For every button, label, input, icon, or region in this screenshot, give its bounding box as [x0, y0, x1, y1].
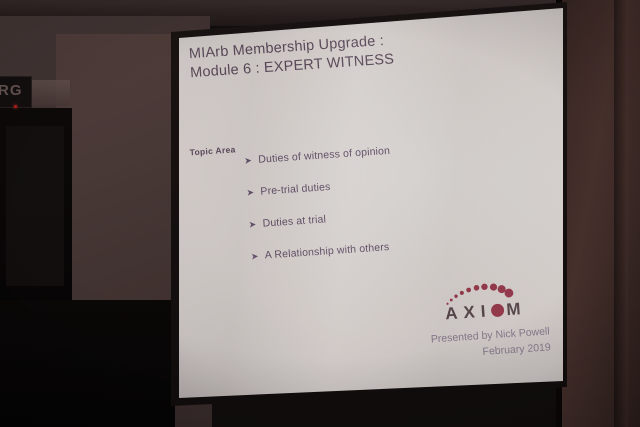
list-item-label: A Relationship with others	[264, 241, 389, 261]
axiom-letter-a: A	[445, 303, 465, 323]
bullet-arrow-icon: ➤	[246, 185, 255, 199]
presentation-date: February 2019	[379, 339, 552, 367]
bullet-arrow-icon: ➤	[248, 217, 257, 231]
projector-room-photo: RG MIArb Membership Upgrade : Module 6 :…	[0, 0, 640, 427]
wall-sign: RG	[0, 76, 32, 108]
list-item-label: Duties at trial	[262, 213, 326, 229]
wall-plate	[30, 80, 70, 106]
axiom-o-dot-icon	[491, 303, 505, 317]
list-item: ➤ Pre-trial duties	[246, 165, 546, 199]
door-panel	[6, 126, 64, 286]
dark-floor-area	[0, 300, 175, 427]
wall-sign-glyph: RG	[0, 81, 28, 100]
bullet-arrow-icon: ➤	[250, 249, 259, 263]
list-item: ➤ Duties of witness of opinion	[244, 133, 544, 167]
topic-bullet-list: ➤ Duties of witness of opinion ➤ Pre-tri…	[244, 133, 552, 281]
list-item: ➤ A Relationship with others	[250, 229, 550, 263]
topic-area-label: Topic Area	[189, 144, 236, 157]
list-item: ➤ Duties at trial	[248, 197, 548, 231]
right-wall-seam	[614, 0, 628, 427]
list-item-label: Pre-trial duties	[260, 181, 331, 198]
axiom-letter-x: X	[463, 302, 482, 322]
list-item-label: Duties of witness of opinion	[258, 145, 391, 166]
axiom-wordmark: AXI M	[445, 300, 528, 324]
bullet-arrow-icon: ➤	[244, 153, 253, 167]
axiom-letter-m: M	[506, 299, 527, 319]
slide-footer: Presented by Nick Powell February 2019	[378, 323, 552, 367]
projected-slide: MIArb Membership Upgrade : Module 6 : EX…	[149, 0, 580, 407]
indicator-led	[14, 105, 17, 108]
slide-title: MIArb Membership Upgrade : Module 6 : EX…	[188, 24, 510, 84]
